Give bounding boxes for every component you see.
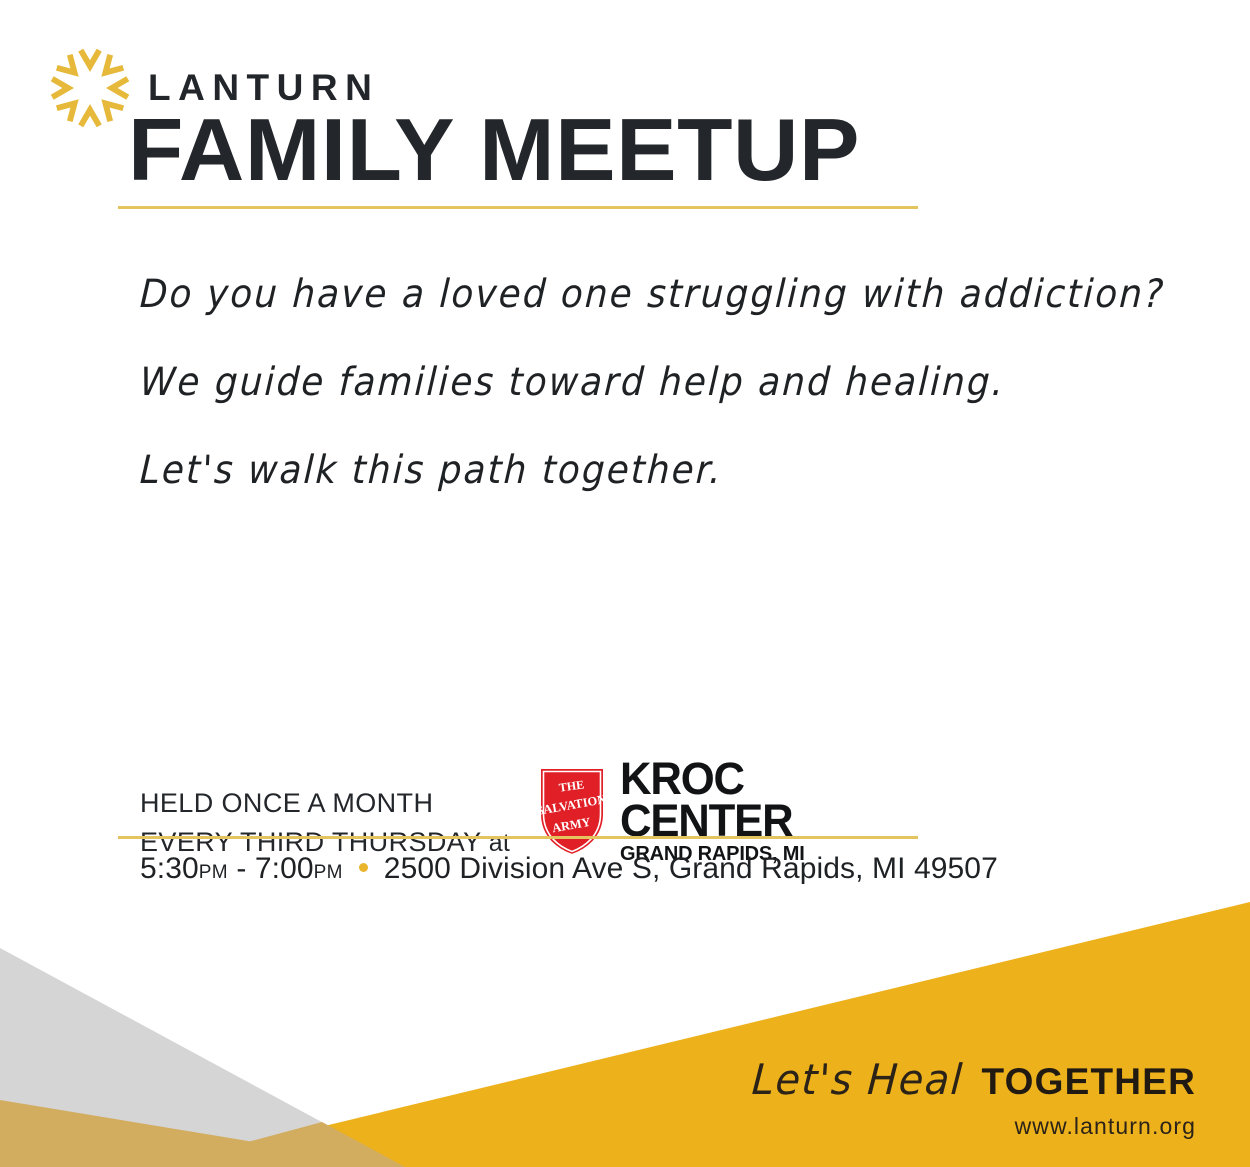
body-line-2: We guide families toward help and healin… xyxy=(139,363,1024,402)
time-start-meridiem: PM xyxy=(199,862,228,884)
body-copy: Do you have a loved one struggling with … xyxy=(140,275,1100,539)
website-url[interactable]: www.lanturn.org xyxy=(741,1113,1196,1140)
footer-tagline: Let's Heal TOGETHER www.lanturn.org xyxy=(741,1055,1196,1140)
time-end-meridiem: PM xyxy=(314,862,343,884)
overlap-wedge-shape xyxy=(0,1100,405,1167)
kroc-line-1: KROC xyxy=(620,758,799,800)
page-title: FAMILY MEETUP xyxy=(128,106,860,194)
divider-mid xyxy=(118,836,918,839)
event-details: 5:30PM - 7:00PM 2500 Division Ave S, Gra… xyxy=(140,852,998,886)
spacer-1 xyxy=(246,852,254,886)
bullet-dot-icon xyxy=(359,863,368,872)
gray-triangle-shape xyxy=(0,948,405,1167)
venue-block: HELD ONCE A MONTH EVERY THIRD THURSDAY a… xyxy=(140,758,805,865)
salvation-army-shield-icon: THE SALVATION ARMY xyxy=(534,762,610,860)
kroc-center-logo: THE SALVATION ARMY KROC CENTER GRAND RAP… xyxy=(534,758,805,865)
time-dash xyxy=(228,852,236,886)
time-dash-glyph: - xyxy=(236,852,246,886)
tagline-bold: TOGETHER xyxy=(982,1061,1197,1103)
schedule-line-1: HELD ONCE A MONTH xyxy=(140,784,510,822)
tagline-row: Let's Heal TOGETHER xyxy=(741,1055,1196,1104)
flyer-canvas: LANTURN FAMILY MEETUP Do you have a love… xyxy=(0,0,1250,1167)
overlap-wedge-shape-2 xyxy=(155,1122,405,1167)
divider-top xyxy=(118,206,918,209)
body-line-1: Do you have a loved one struggling with … xyxy=(139,275,1024,314)
time-end: 7:00 xyxy=(255,852,314,886)
kroc-wordmark: KROC CENTER GRAND RAPIDS, MI xyxy=(620,758,805,863)
tagline-script: Let's Heal xyxy=(751,1055,965,1104)
time-start: 5:30 xyxy=(140,852,199,886)
address-text: 2500 Division Ave S, Grand Rapids, MI 49… xyxy=(384,852,998,886)
sunburst-icon xyxy=(48,46,132,130)
body-line-3: Let's walk this path together. xyxy=(139,451,1024,490)
